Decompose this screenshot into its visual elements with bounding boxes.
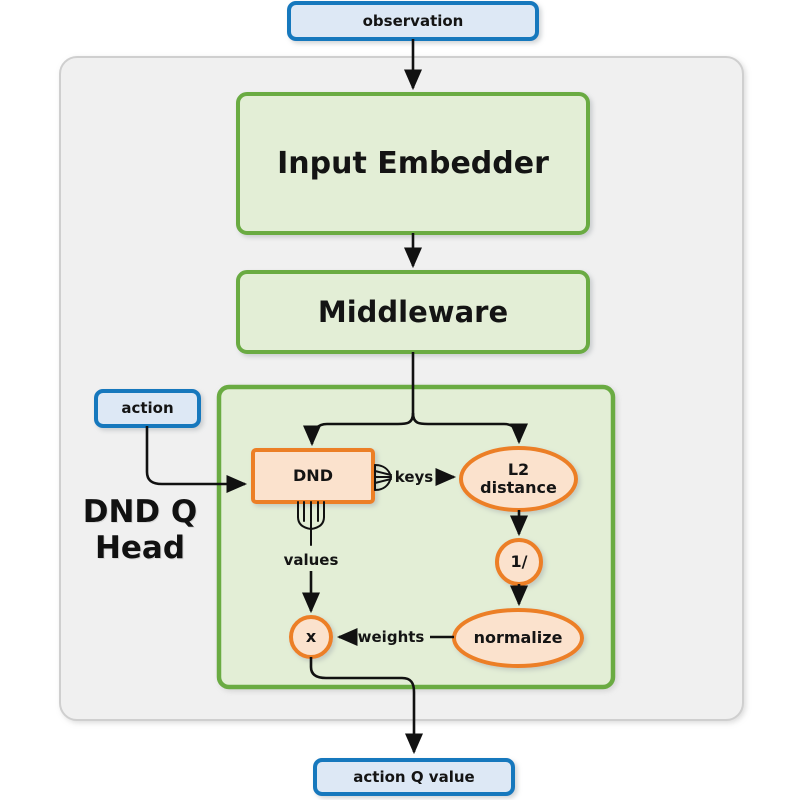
edge-label-keys: keys — [392, 466, 436, 488]
edge-label-weights: weights — [352, 626, 430, 648]
node-action-q-value[interactable] — [315, 760, 513, 794]
node-observation[interactable] — [289, 3, 537, 39]
node-input-embedder[interactable] — [238, 94, 588, 233]
node-multiply[interactable] — [291, 617, 331, 657]
dnd-q-head-title-line2: Head — [70, 531, 210, 567]
dnd-q-head-group-title: DND Q Head — [70, 495, 210, 566]
diagram-canvas: observation Input Embedder Middleware ac… — [0, 0, 800, 800]
node-middleware[interactable] — [238, 272, 588, 352]
node-dnd[interactable] — [253, 450, 373, 502]
edge-label-values: values — [278, 549, 344, 571]
node-action[interactable] — [96, 391, 199, 426]
node-reciprocal[interactable] — [497, 540, 541, 584]
dnd-q-head-title-line1: DND Q — [70, 495, 210, 531]
node-normalize[interactable] — [454, 610, 582, 666]
node-l2-distance[interactable] — [461, 448, 576, 510]
diagram-svg — [0, 0, 800, 800]
